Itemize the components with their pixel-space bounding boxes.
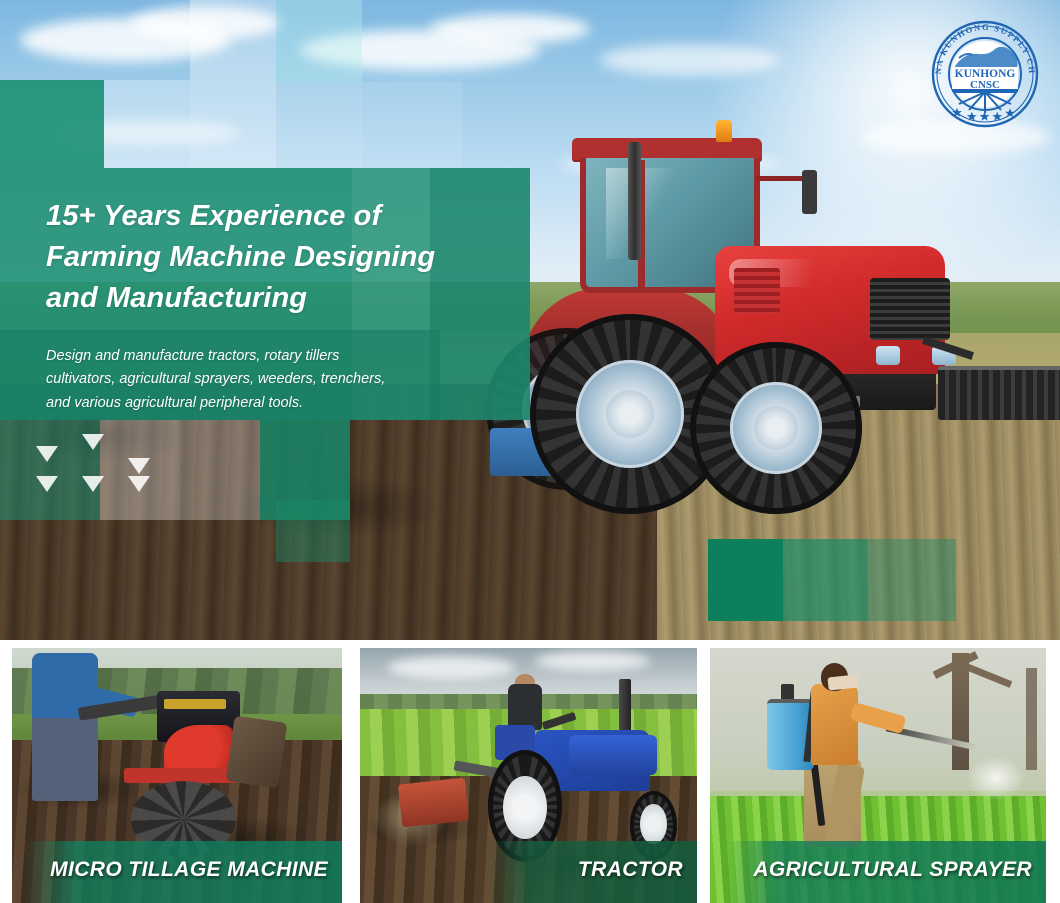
- hero-headline: 15+ Years Experience of Farming Machine …: [46, 196, 516, 320]
- tractor-headlight: [876, 346, 900, 365]
- tractor-hood-vent: [734, 268, 780, 314]
- triangle-down-icon: [82, 476, 104, 492]
- product-card-label: MICRO TILLAGE MACHINE: [24, 841, 342, 903]
- product-card-label: AGRICULTURAL SPRAYER: [727, 841, 1046, 903]
- tractor-front-implement: [938, 366, 1060, 420]
- company-logo: KUNHONG CNSC CHINA KUNHONG SUPPLY CHAIN: [925, 14, 1045, 134]
- tractor-beacon-light: [716, 120, 732, 142]
- hero-section: 15+ Years Experience of Farming Machine …: [0, 0, 1060, 640]
- promo-banner: 15+ Years Experience of Farming Machine …: [0, 0, 1060, 903]
- hero-tractor-image: [520, 128, 1060, 528]
- subtext-line-1: Design and manufacture tractors, rotary …: [46, 345, 466, 368]
- hero-subtext: Design and manufacture tractors, rotary …: [46, 345, 466, 415]
- tractor-wheel: [690, 342, 862, 514]
- subtext-line-2: cultivators, agricultural sprayers, weed…: [46, 368, 466, 391]
- triangle-down-icon: [36, 446, 58, 462]
- headline-line-1: 15+ Years Experience of: [46, 196, 516, 237]
- cloud: [430, 14, 590, 44]
- triangle-down-icon: [128, 458, 150, 474]
- tractor-grille: [870, 278, 950, 340]
- product-card-row: MICRO TILLAGE MACHINE: [0, 648, 1060, 903]
- triangle-down-icon: [82, 434, 104, 450]
- decor-triangle-group: [36, 428, 166, 508]
- headline-line-2: Farming Machine Designing: [46, 237, 516, 278]
- product-card-agricultural-sprayer[interactable]: AGRICULTURAL SPRAYER: [710, 648, 1046, 903]
- subtext-line-3: and various agricultural peripheral tool…: [46, 392, 466, 415]
- product-card-micro-tillage-machine[interactable]: MICRO TILLAGE MACHINE: [12, 648, 342, 903]
- headline-line-3: and Manufacturing: [46, 278, 516, 319]
- product-card-tractor[interactable]: TRACTOR: [360, 648, 697, 903]
- cloud: [600, 44, 780, 76]
- cloud: [130, 6, 280, 40]
- triangle-down-icon: [128, 476, 150, 492]
- cloud: [60, 120, 240, 146]
- logo-abbr: CNSC: [970, 79, 1000, 91]
- tractor-exhaust-stack: [628, 142, 641, 260]
- tractor-mirror: [802, 170, 817, 214]
- product-card-label: TRACTOR: [488, 841, 697, 903]
- tractor-cab-roof: [572, 138, 762, 160]
- triangle-down-icon: [36, 476, 58, 492]
